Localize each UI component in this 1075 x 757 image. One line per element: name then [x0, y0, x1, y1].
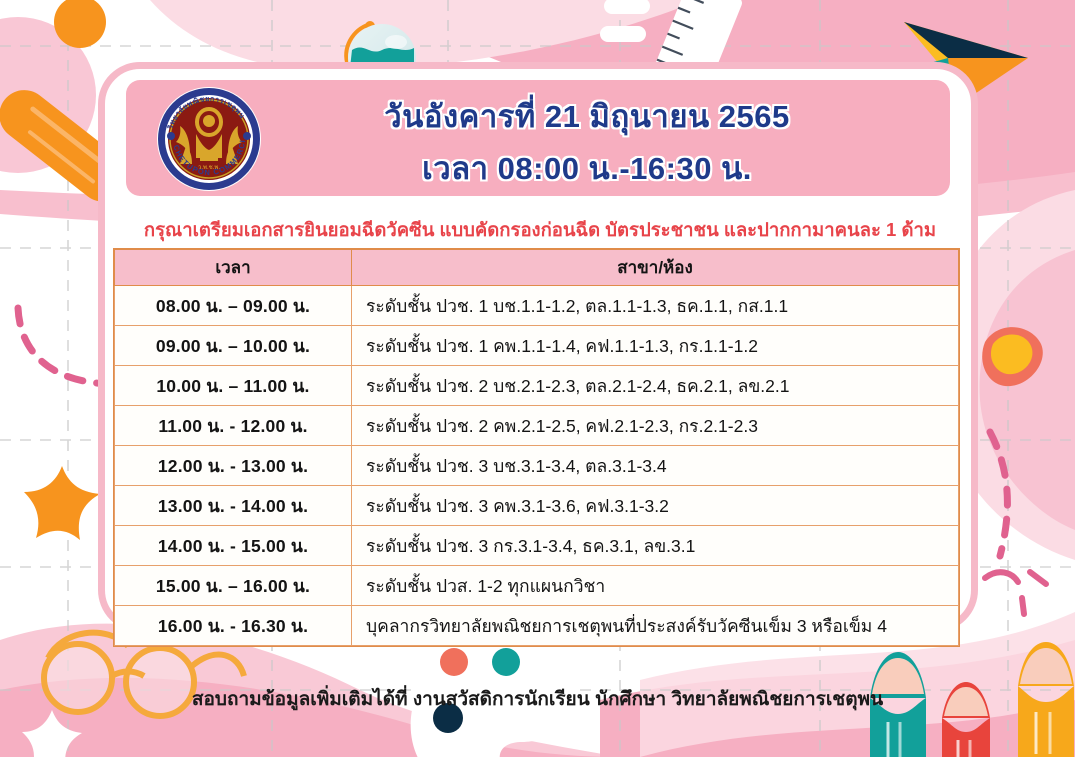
cell-time: 11.00 น. - 12.00 น. [115, 406, 352, 446]
header-title-block: วันอังคารที่ 21 มิถุนายน 2565 เวลา 08:00… [272, 96, 902, 188]
column-header-room: สาขา/ห้อง [352, 250, 959, 286]
header-date-line: วันอังคารที่ 21 มิถุนายน 2565 [384, 91, 790, 141]
poster-canvas: วิทยาลัยพณิชยการเชตุพน CHETUPON COMMERCI… [0, 0, 1075, 757]
header-time-line: เวลา 08:00 น.-16:30 น. [422, 143, 752, 193]
column-header-time: เวลา [115, 250, 352, 286]
cell-room: ระดับชั้น ปวช. 1 บช.1.1-1.2, ตล.1.1-1.3,… [352, 286, 959, 326]
cell-room: ระดับชั้น ปวส. 1-2 ทุกแผนกวิชา [352, 566, 959, 606]
schedule-table-body: 08.00 น. – 09.00 น.ระดับชั้น ปวช. 1 บช.1… [115, 286, 959, 646]
table-row: 08.00 น. – 09.00 น.ระดับชั้น ปวช. 1 บช.1… [115, 286, 959, 326]
schedule-table-wrapper: เวลา สาขา/ห้อง 08.00 น. – 09.00 น.ระดับช… [113, 248, 960, 647]
cell-time: 10.00 น. – 11.00 น. [115, 366, 352, 406]
table-row: 11.00 น. - 12.00 น.ระดับชั้น ปวช. 2 คพ.2… [115, 406, 959, 446]
logo-abbrev-text: ว.พ.ช.พ. [198, 164, 220, 171]
cell-time: 08.00 น. – 09.00 น. [115, 286, 352, 326]
table-row: 14.00 น. - 15.00 น.ระดับชั้น ปวช. 3 กร.3… [115, 526, 959, 566]
college-seal-logo: วิทยาลัยพณิชยการเชตุพน CHETUPON COMMERCI… [156, 86, 262, 192]
footer-contact-text: สอบถามข้อมูลเพิ่มเติมได้ที่ งานสวัสดิการ… [0, 684, 1075, 714]
table-row: 10.00 น. – 11.00 น.ระดับชั้น ปวช. 2 บช.2… [115, 366, 959, 406]
cell-room: ระดับชั้น ปวช. 3 คพ.3.1-3.6, คฟ.3.1-3.2 [352, 486, 959, 526]
cell-room: ระดับชั้น ปวช. 3 บช.3.1-3.4, ตล.3.1-3.4 [352, 446, 959, 486]
cell-room: บุคลากรวิทยาลัยพณิชยการเชตุพนที่ประสงค์ร… [352, 606, 959, 646]
cell-time: 12.00 น. - 13.00 น. [115, 446, 352, 486]
cell-time: 13.00 น. - 14.00 น. [115, 486, 352, 526]
cell-time: 16.00 น. - 16.30 น. [115, 606, 352, 646]
cell-room: ระดับชั้น ปวช. 2 คพ.2.1-2.5, คฟ.2.1-2.3,… [352, 406, 959, 446]
notice-text: กรุณาเตรียมเอกสารยินยอมฉีดวัคซีน แบบคัดก… [110, 216, 970, 245]
schedule-table: เวลา สาขา/ห้อง 08.00 น. – 09.00 น.ระดับช… [114, 249, 959, 646]
cell-time: 09.00 น. – 10.00 น. [115, 326, 352, 366]
table-row: 15.00 น. – 16.00 น.ระดับชั้น ปวส. 1-2 ทุ… [115, 566, 959, 606]
table-row: 16.00 น. - 16.30 น.บุคลากรวิทยาลัยพณิชยก… [115, 606, 959, 646]
cell-room: ระดับชั้น ปวช. 2 บช.2.1-2.3, ตล.2.1-2.4,… [352, 366, 959, 406]
table-row: 13.00 น. - 14.00 น.ระดับชั้น ปวช. 3 คพ.3… [115, 486, 959, 526]
cell-room: ระดับชั้น ปวช. 1 คพ.1.1-1.4, คฟ.1.1-1.3,… [352, 326, 959, 366]
cell-room: ระดับชั้น ปวช. 3 กร.3.1-3.4, ธค.3.1, ลข.… [352, 526, 959, 566]
cell-time: 15.00 น. – 16.00 น. [115, 566, 352, 606]
cell-time: 14.00 น. - 15.00 น. [115, 526, 352, 566]
table-row: 09.00 น. – 10.00 น.ระดับชั้น ปวช. 1 คพ.1… [115, 326, 959, 366]
table-row: 12.00 น. - 13.00 น.ระดับชั้น ปวช. 3 บช.3… [115, 446, 959, 486]
table-header-row: เวลา สาขา/ห้อง [115, 250, 959, 286]
